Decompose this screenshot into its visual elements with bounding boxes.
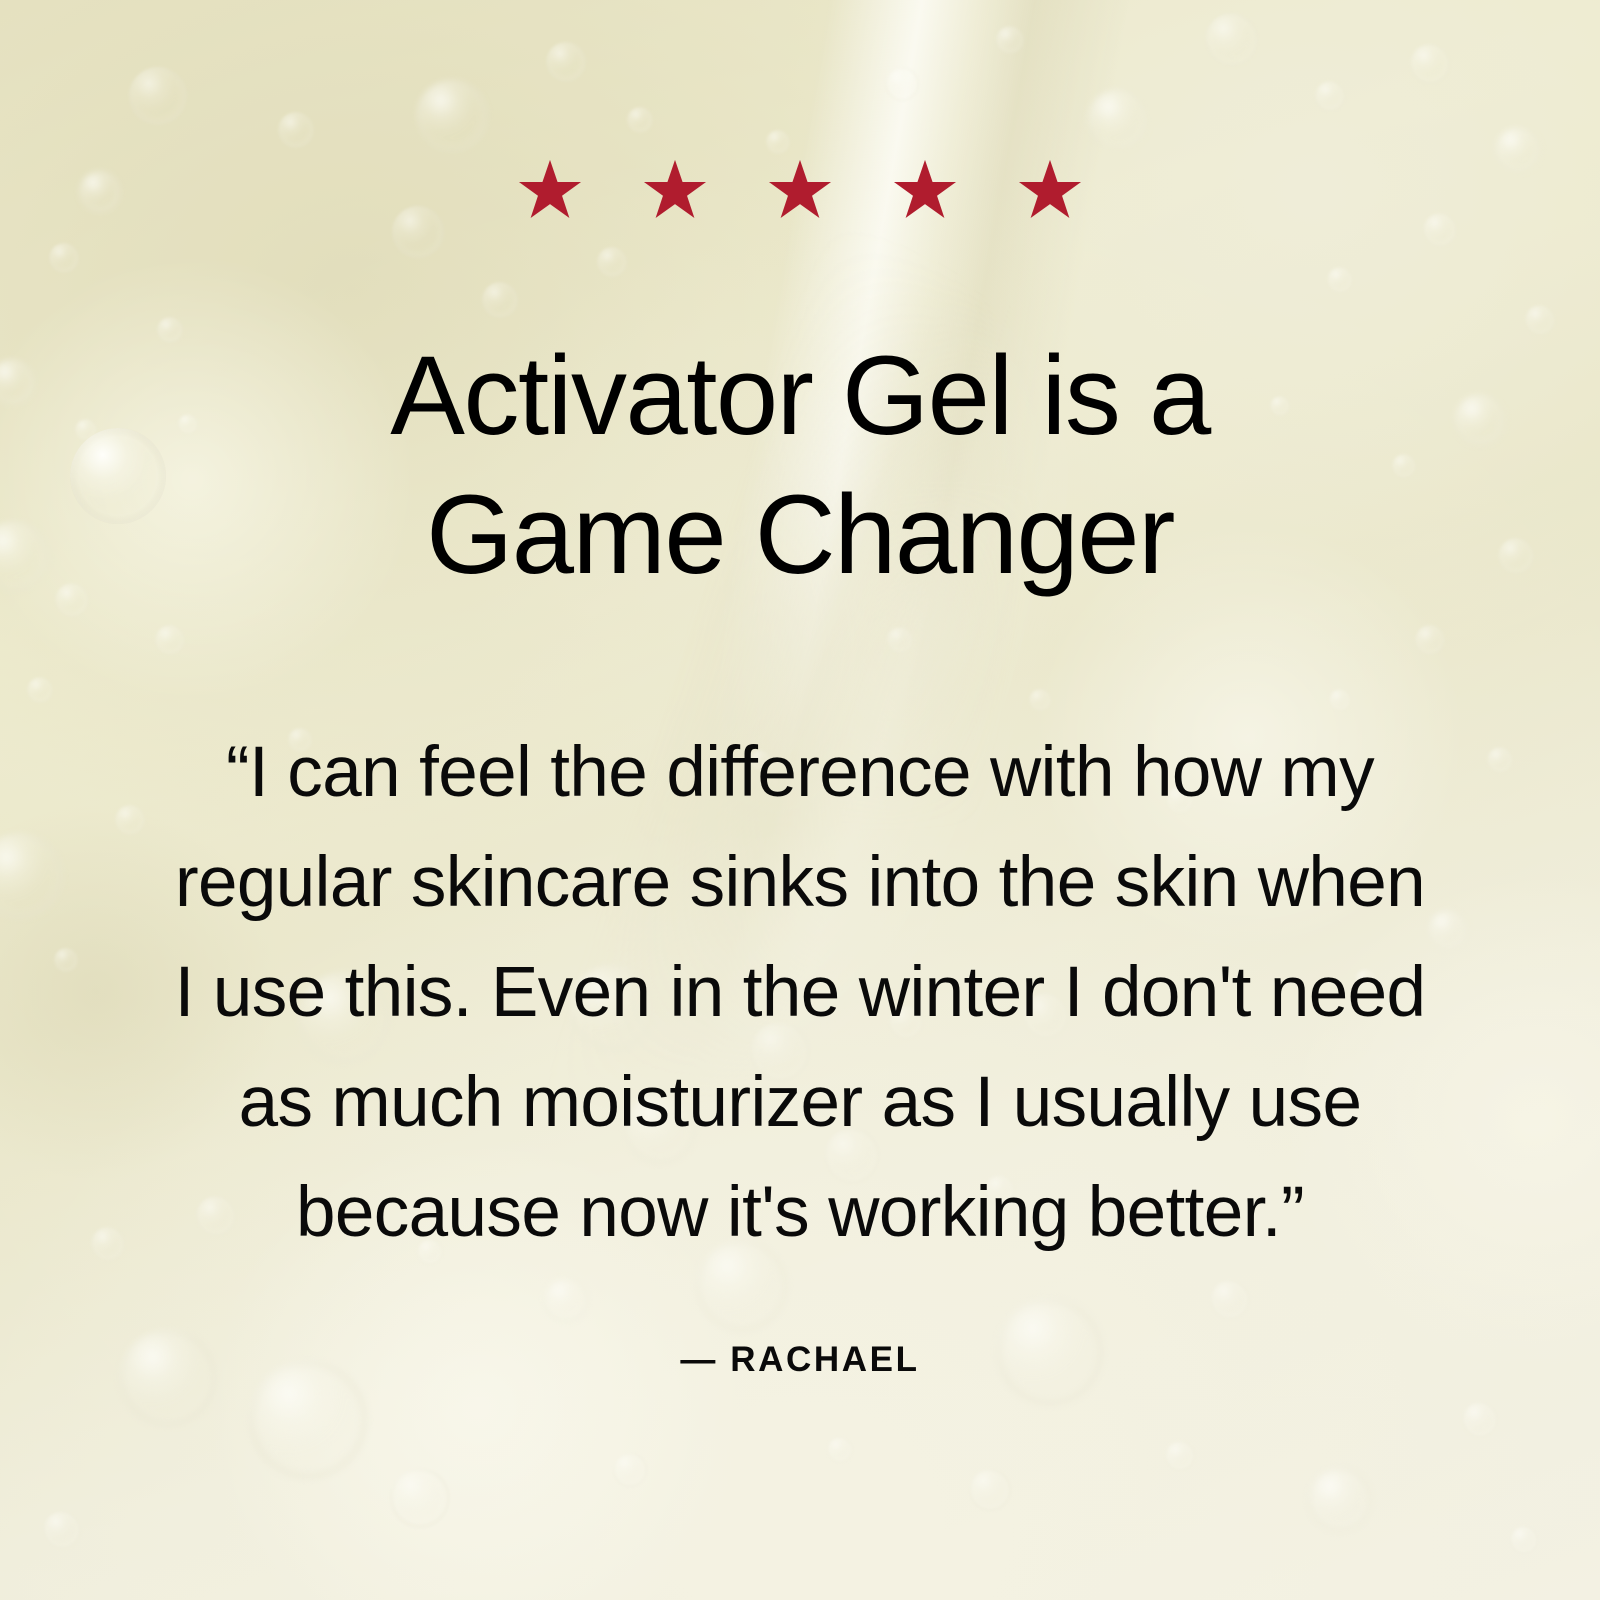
testimonial-quote: “I can feel the difference with how myre… [78, 718, 1522, 1268]
page-title: Activator Gel is aGame Changer [0, 327, 1600, 605]
testimonial-quote-line: because now it's working better.” [78, 1158, 1522, 1268]
testimonial-quote-line: “I can feel the difference with how my [78, 718, 1522, 828]
page-title-line: Activator Gel is a [0, 327, 1600, 466]
star-icon [518, 158, 582, 220]
star-icon [768, 158, 832, 220]
star-rating [0, 158, 1600, 220]
testimonial-quote-line: I use this. Even in the winter I don't n… [78, 938, 1522, 1048]
star-icon [643, 158, 707, 220]
testimonial-quote-line: regular skincare sinks into the skin whe… [78, 828, 1522, 938]
star-icon [893, 158, 957, 220]
testimonial-attribution: — RACHAEL [0, 1340, 1600, 1380]
star-icon [1018, 158, 1082, 220]
page-title-line: Game Changer [0, 466, 1600, 605]
testimonial-quote-line: as much moisturizer as I usually use [78, 1048, 1522, 1158]
testimonial-card: Activator Gel is aGame Changer “I can fe… [0, 0, 1600, 1600]
card-content: Activator Gel is aGame Changer “I can fe… [0, 0, 1600, 1600]
